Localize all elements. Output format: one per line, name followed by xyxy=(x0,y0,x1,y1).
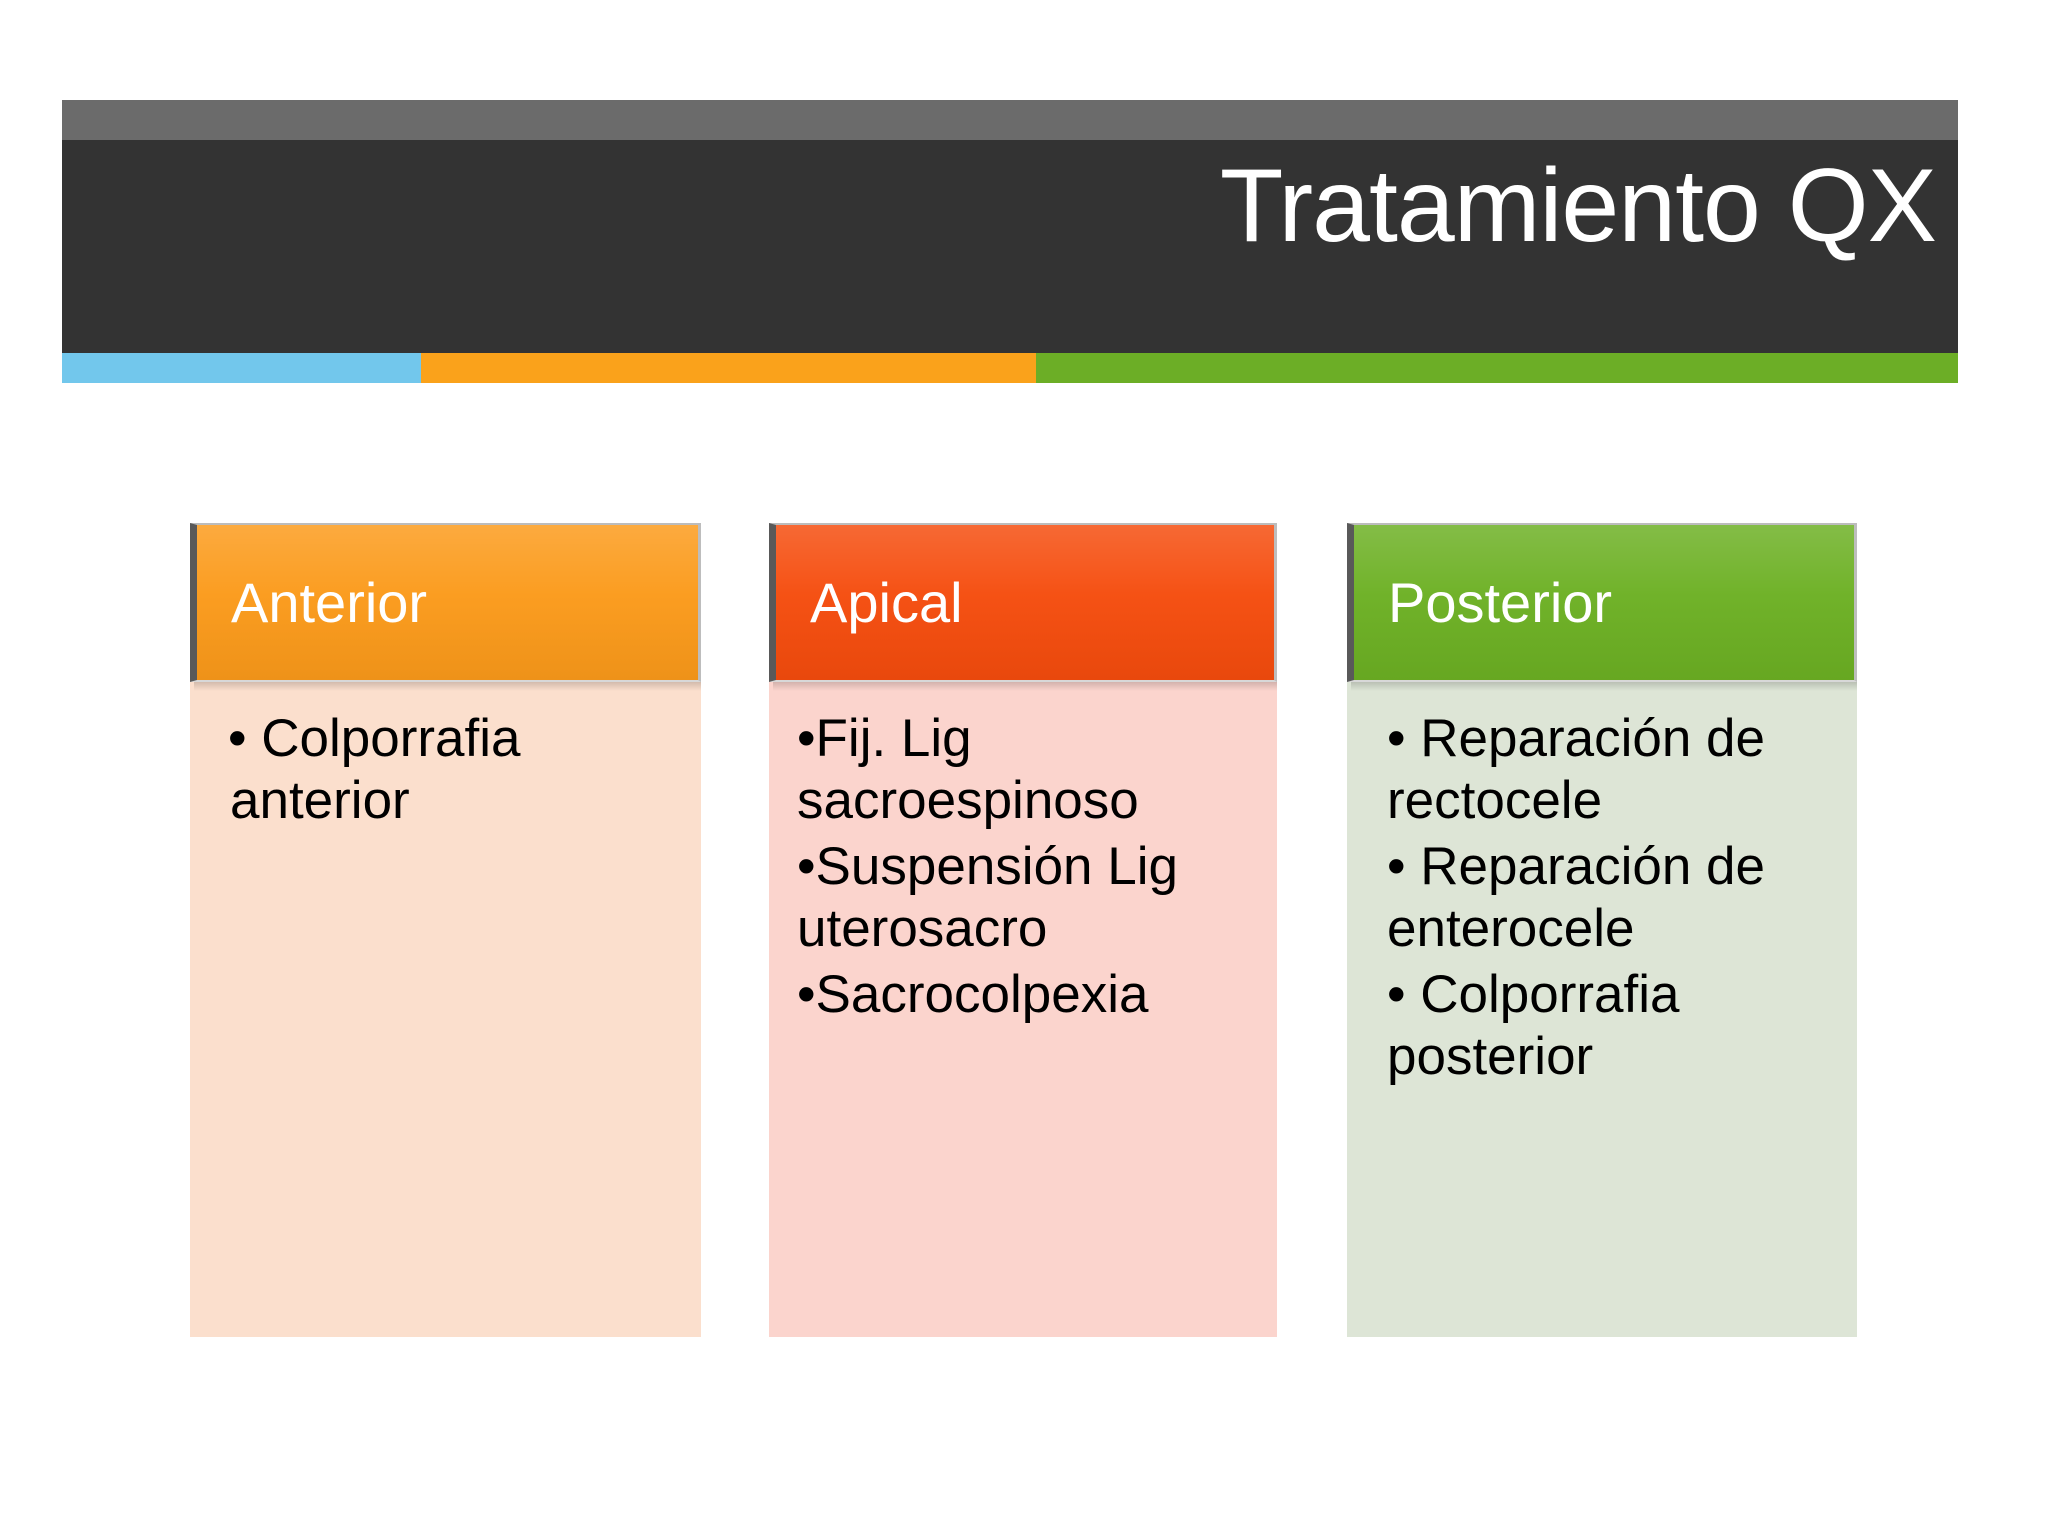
column-posterior-title: Posterior xyxy=(1354,575,1612,631)
list-item: • Colporrafia anterior xyxy=(208,708,683,832)
page-title: Tratamiento QX xyxy=(1220,154,1936,258)
column-posterior-body: • Reparación de rectocele • Reparación d… xyxy=(1347,682,1857,1337)
column-apical: Apical •Fij. Lig sacroespinoso •Suspensi… xyxy=(769,523,1277,1337)
list-item: •Fij. Lig sacroespinoso xyxy=(787,708,1259,832)
column-anterior: Anterior • Colporrafia anterior xyxy=(190,523,701,1337)
accent-segment-blue xyxy=(62,353,421,383)
accent-segment-orange xyxy=(421,353,1036,383)
column-apical-body: •Fij. Lig sacroespinoso •Suspensión Lig … xyxy=(769,682,1277,1337)
column-anterior-body: • Colporrafia anterior xyxy=(190,682,701,1337)
list-item: • Reparación de rectocele xyxy=(1365,708,1839,832)
accent-color-bar xyxy=(62,353,1958,383)
column-posterior: Posterior • Reparación de rectocele • Re… xyxy=(1347,523,1857,1337)
column-apical-header: Apical xyxy=(769,523,1277,682)
title-gray-strip xyxy=(62,100,1958,140)
list-item: • Colporrafia posterior xyxy=(1365,964,1839,1088)
title-banner: Tratamiento QX xyxy=(62,100,1958,353)
list-item: •Sacrocolpexia xyxy=(787,964,1259,1026)
list-item: • Reparación de enterocele xyxy=(1365,836,1839,960)
column-anterior-title: Anterior xyxy=(197,575,427,631)
column-posterior-header: Posterior xyxy=(1347,523,1857,682)
list-item: •Suspensión Lig uterosacro xyxy=(787,836,1259,960)
accent-segment-green xyxy=(1036,353,1958,383)
column-apical-title: Apical xyxy=(776,575,963,631)
column-anterior-header: Anterior xyxy=(190,523,701,682)
